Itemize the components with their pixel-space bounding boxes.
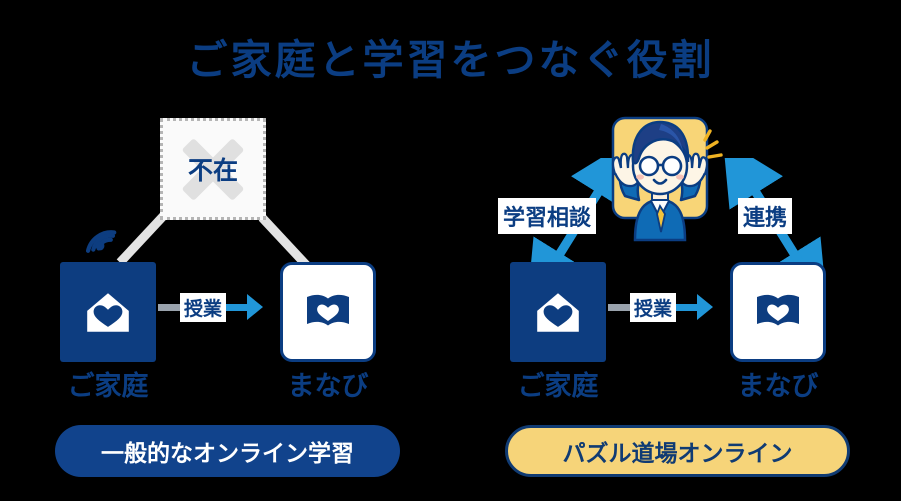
learn-node-right[interactable] [730,262,826,362]
puzzle-dojo-online-button[interactable]: パズル道場オンライン [505,425,850,477]
absent-card-label: 不在 [188,151,238,187]
learn-node-left-label-clip: まなび [258,366,398,400]
lesson-arrow-left-label: 授業 [180,293,226,322]
right-diagram-panel: 学習相談 連携 ご家庭 授業 まなび [480,100,880,400]
home-node-left-label-clip: ご家庭 [38,366,178,400]
learn-node-left-label: まなび [258,366,398,400]
general-online-learning-button[interactable]: 一般的なオンライン学習 [55,425,400,477]
link-label: 連携 [738,198,792,234]
lesson-arrow-right-label: 授業 [630,293,676,322]
home-node-right-label: ご家庭 [488,366,628,400]
wifi-signal-icon [72,200,128,256]
infographic-stage: ご家庭と学習をつなぐ役割 不在 [0,0,901,501]
lesson-arrow-right: 授業 [608,290,738,324]
learn-node-right-label: まなび [708,366,848,400]
consult-label: 学習相談 [498,198,596,234]
home-node-right[interactable] [510,262,606,362]
learn-node-left[interactable] [280,262,376,362]
page-title: ご家庭と学習をつなぐ役割 [0,26,901,86]
book-heart-icon [754,292,802,332]
left-diagram-panel: 不在 ご家庭 授業 [30,100,430,400]
home-node-left-label: ご家庭 [38,366,178,400]
arrow-right-icon [247,294,263,320]
arrow-right-icon [697,294,713,320]
lesson-arrow-left: 授業 [158,290,288,324]
home-heart-icon [534,290,582,335]
teacher-character-icon [595,100,725,245]
home-node-right-label-clip: ご家庭 [488,366,628,400]
learn-node-right-label-clip: まなび [708,366,848,400]
home-heart-icon [84,290,132,335]
book-heart-icon [304,292,352,332]
home-node-left[interactable] [60,262,156,362]
absent-card: 不在 [160,118,266,220]
